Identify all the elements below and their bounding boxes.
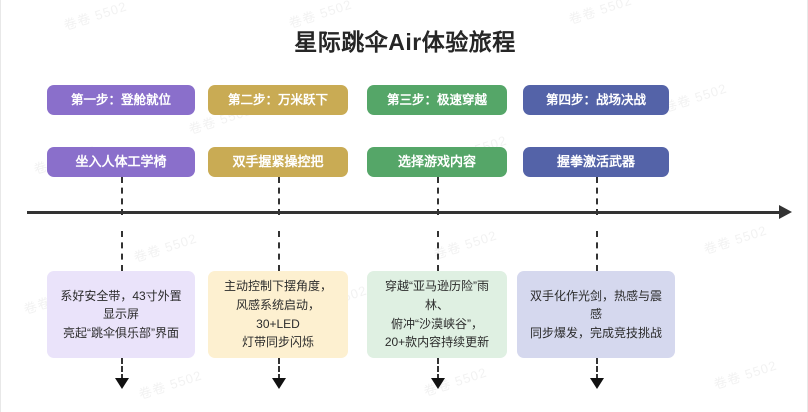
page-title: 星际跳伞Air体验旅程 xyxy=(1,23,808,57)
description-card-4: 双手化作光剑，热感与震感 同步爆发，完成竞技挑战 xyxy=(517,271,675,358)
connector-tail-4 xyxy=(596,358,598,380)
description-card-3: 穿越“亚马逊历险”雨林、 俯冲“沙漠峡谷”， 20+款内容持续更新 xyxy=(367,271,507,358)
connector-lower-1 xyxy=(121,231,123,271)
watermark: 卷卷 5502 xyxy=(431,225,499,263)
connector-tail-3 xyxy=(437,358,439,380)
description-card-2: 主动控制下摆角度， 风感系统启动，30+LED 灯带同步闪烁 xyxy=(208,271,348,358)
connector-lower-4 xyxy=(596,231,598,271)
description-text-3: 穿越“亚马逊历险”雨林、 俯冲“沙漠峡谷”， 20+款内容持续更新 xyxy=(376,277,498,351)
step-badge-3[interactable]: 第三步：极速穿越 xyxy=(367,85,507,115)
description-text-4: 双手化作光剑，热感与震感 同步爆发，完成竞技挑战 xyxy=(526,287,666,343)
action-badge-3[interactable]: 选择游戏内容 xyxy=(367,147,507,177)
description-text-2: 主动控制下摆角度， 风感系统启动，30+LED 灯带同步闪烁 xyxy=(217,277,339,351)
description-card-1: 系好安全带，43寸外置显示屏 亮起“跳伞俱乐部”界面 xyxy=(47,271,195,358)
step-badge-1[interactable]: 第一步：登舱就位 xyxy=(47,85,195,115)
action-badge-2[interactable]: 双手握紧操控把 xyxy=(208,147,348,177)
down-arrowhead-icon-4 xyxy=(590,378,604,389)
connector-upper-4 xyxy=(596,177,598,215)
watermark: 卷卷 5502 xyxy=(711,355,779,393)
connector-upper-3 xyxy=(437,177,439,215)
down-arrowhead-icon-3 xyxy=(431,378,445,389)
step-badge-4[interactable]: 第四步：战场决战 xyxy=(523,85,669,115)
down-arrowhead-icon-2 xyxy=(272,378,286,389)
journey-diagram-canvas: 卷卷 5502 卷卷 5502 卷卷 5502 卷卷 5502 卷卷 5502 … xyxy=(0,0,808,412)
watermark: 卷卷 5502 xyxy=(661,78,729,116)
connector-tail-2 xyxy=(278,358,280,380)
step-badge-2[interactable]: 第二步：万米跃下 xyxy=(208,85,348,115)
watermark: 卷卷 5502 xyxy=(136,365,204,403)
watermark: 卷卷 5502 xyxy=(131,228,199,266)
connector-lower-3 xyxy=(437,231,439,271)
connector-lower-2 xyxy=(278,231,280,271)
down-arrowhead-icon-1 xyxy=(115,378,129,389)
connector-upper-2 xyxy=(278,177,280,215)
connector-upper-1 xyxy=(121,177,123,215)
action-badge-4[interactable]: 握拳激活武器 xyxy=(523,147,669,177)
timeline-axis-line xyxy=(27,211,783,214)
description-text-1: 系好安全带，43寸外置显示屏 亮起“跳伞俱乐部”界面 xyxy=(56,287,186,343)
watermark: 卷卷 5502 xyxy=(701,220,769,258)
connector-tail-1 xyxy=(121,358,123,380)
action-badge-1[interactable]: 坐入人体工学椅 xyxy=(47,147,195,177)
timeline-arrowhead-icon xyxy=(779,205,792,219)
